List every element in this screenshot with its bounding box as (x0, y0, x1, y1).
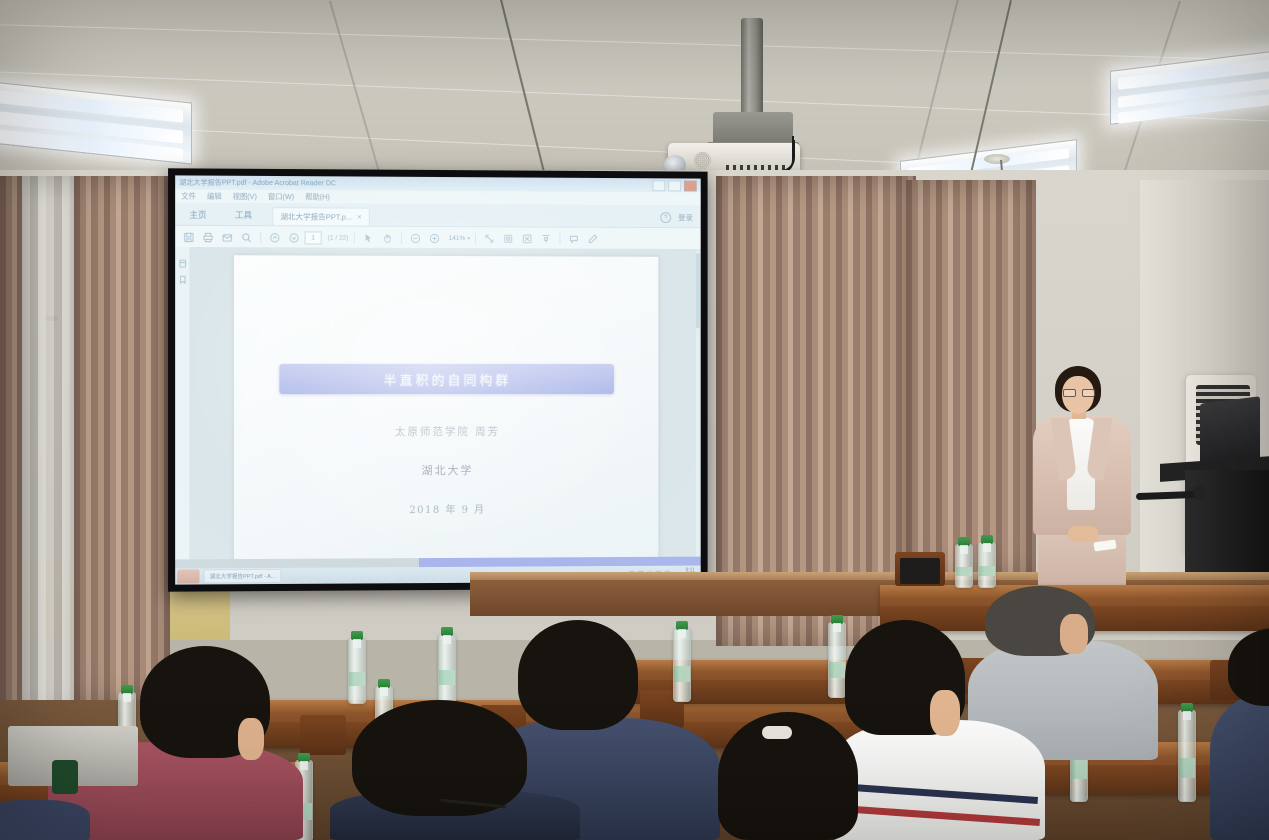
water-bottle (1178, 710, 1196, 802)
bookmarks-icon[interactable] (178, 271, 187, 280)
document-view: 半直积的自同构群 太原师范学院 周芳 湖北大学 2018 年 9 月 (175, 247, 701, 569)
audience-ear (1060, 614, 1088, 654)
toolbar-divider (353, 232, 354, 243)
page-thumbnails-icon[interactable] (178, 255, 187, 264)
scroll-mode-icon[interactable] (538, 231, 555, 246)
chevron-down-icon[interactable]: ▾ (467, 235, 470, 242)
taskbar-window-item[interactable]: 湖北大学报告PPT.pdf - A... (204, 569, 282, 584)
water-bottle (828, 622, 846, 698)
menu-edit[interactable]: 编辑 (207, 191, 222, 201)
audience-ear (930, 690, 960, 736)
help-icon[interactable]: ? (660, 212, 671, 223)
vertical-scrollbar[interactable] (696, 251, 700, 564)
toolbar-divider (475, 233, 476, 244)
save-icon[interactable] (180, 229, 197, 244)
sprinkler-icon (984, 154, 1010, 164)
hair-tie (762, 726, 792, 739)
chair-seat (900, 558, 940, 584)
audience-ear (238, 718, 264, 760)
tab-tools[interactable]: 工具 (221, 209, 267, 225)
menu-help[interactable]: 帮助(H) (305, 192, 330, 202)
audience-hair (518, 620, 638, 730)
email-icon[interactable] (219, 230, 236, 245)
slide-university: 湖北大学 (422, 462, 474, 478)
slide-title: 半直积的自同构群 (383, 370, 511, 389)
window-controls[interactable] (652, 180, 696, 191)
slide-author: 太原师范学院 周芳 (395, 424, 500, 439)
pdf-page: 半直积的自同构群 太原师范学院 周芳 湖北大学 2018 年 9 月 (234, 255, 658, 568)
projector-pole (741, 18, 763, 116)
zoom-in-icon[interactable] (426, 230, 443, 245)
ceiling-light (0, 81, 192, 164)
glasses-icon (1063, 389, 1093, 395)
curtain (74, 176, 170, 706)
next-page-icon[interactable] (285, 230, 302, 245)
tab-bar[interactable]: 主页 工具 湖北大学报告PPT.p... × ? 登录 (175, 203, 701, 229)
acrobat-window: 湖北大学报告PPT.pdf - Adobe Acrobat Reader DC … (175, 175, 701, 584)
highlight-icon[interactable] (584, 231, 601, 246)
ceiling-light (1110, 49, 1269, 125)
chair (300, 715, 346, 755)
menu-file[interactable]: 文件 (181, 191, 196, 201)
menu-window[interactable]: 窗口(W) (268, 192, 294, 202)
close-tab-icon[interactable]: × (357, 213, 362, 222)
print-icon[interactable] (199, 229, 216, 244)
signin-button[interactable]: 登录 (678, 212, 693, 223)
pdf-page-area[interactable]: 半直积的自同构群 太原师范学院 周芳 湖北大学 2018 年 9 月 (190, 247, 700, 568)
tab-home[interactable]: 主页 (175, 209, 221, 225)
water-bottle (978, 542, 996, 588)
page-total-label: (1 / 22) (328, 234, 349, 241)
zoom-out-icon[interactable] (407, 230, 424, 245)
document-tab-label: 湖北大学报告PPT.p... (280, 211, 352, 222)
curtain (0, 176, 22, 736)
water-bottle (955, 544, 973, 588)
presenter-hands (1068, 526, 1098, 542)
start-button-icon[interactable] (177, 569, 199, 583)
lecture-room-scene: 湖北大学报告PPT.pdf - Adobe Acrobat Reader DC … (0, 0, 1269, 840)
slide-title-band: 半直积的自同构群 (279, 364, 614, 394)
toolbar-divider (401, 232, 402, 243)
previous-page-icon[interactable] (266, 230, 283, 245)
slide-content: 半直积的自同构群 太原师范学院 周芳 湖北大学 2018 年 9 月 (234, 255, 658, 568)
fullscreen-icon[interactable] (519, 231, 536, 246)
fit-page-icon[interactable] (481, 231, 498, 246)
zoom-level-select[interactable]: 141% ▾ (449, 235, 471, 242)
water-bottle (438, 634, 456, 704)
zoom-level-value: 141% (449, 235, 466, 242)
close-button[interactable] (684, 180, 697, 191)
projector-vent-icon (694, 152, 711, 169)
window-title: 湖北大学报告PPT.pdf - Adobe Acrobat Reader DC (179, 177, 336, 188)
search-icon[interactable] (238, 230, 255, 245)
slide-date: 2018 年 9 月 (409, 501, 485, 516)
fit-width-icon[interactable] (500, 231, 517, 246)
maximize-button[interactable] (668, 180, 681, 191)
comment-icon[interactable] (566, 231, 583, 246)
hand-tool-icon[interactable] (379, 230, 396, 245)
curtain (906, 180, 1036, 580)
minimize-button[interactable] (652, 180, 665, 191)
audience-torso (0, 800, 90, 840)
sheer-curtain (22, 176, 78, 721)
projection-screen: 湖北大学报告PPT.pdf - Adobe Acrobat Reader DC … (168, 168, 708, 591)
toolbar-divider (560, 233, 561, 244)
select-tool-icon[interactable] (359, 230, 376, 245)
water-bottle (673, 628, 691, 702)
page-number-input[interactable]: 1 (305, 231, 322, 244)
water-bottle (348, 638, 366, 704)
navigation-pane[interactable] (175, 247, 190, 569)
document-tab[interactable]: 湖北大学报告PPT.p... × (272, 207, 370, 226)
equipment-item (52, 760, 78, 794)
projector-cable (762, 136, 794, 174)
menu-view[interactable]: 视图(V) (233, 191, 257, 201)
toolbar-divider (260, 232, 261, 243)
